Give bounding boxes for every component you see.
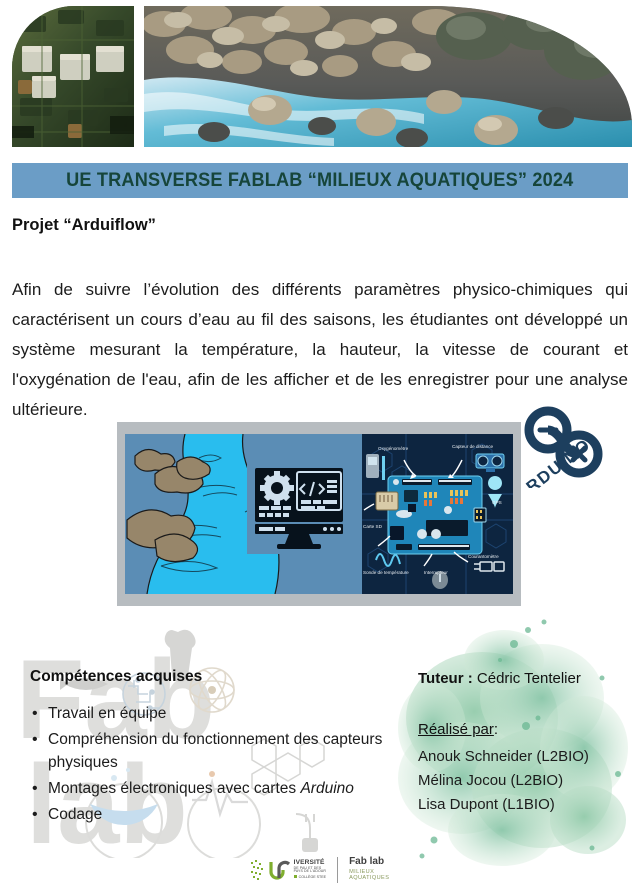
project-heading: Projet “Arduiflow” xyxy=(12,216,156,235)
uppa-line-3: COLLÈGE STEE xyxy=(294,875,326,880)
author-name: Mélina Jocou (L2BIO) xyxy=(418,769,628,793)
tutor-line: Tuteur : Cédric Tentelier xyxy=(418,668,628,690)
realise-underlined: Réalisé par xyxy=(418,721,494,738)
skills-heading: Compétences acquises xyxy=(30,668,390,686)
uppa-line-2b: PAYS DE L'ADOUR xyxy=(294,870,326,874)
list-item: Codage xyxy=(30,803,390,826)
rocky-stream-photo xyxy=(144,6,632,147)
uppa-wordmark: IVERSITÉ DE PAU ET DES PAYS DE L'ADOUR C… xyxy=(294,860,326,879)
author-name: Lisa Dupont (L1BIO) xyxy=(418,793,628,817)
uppa-monogram-icon xyxy=(269,859,291,881)
skills-section: Compétences acquises Travail en équipe C… xyxy=(30,668,390,829)
skills-list: Travail en équipe Compréhension du fonct… xyxy=(30,702,390,826)
credits-section: Tuteur : Cédric Tentelier Réalisé par: A… xyxy=(418,668,628,817)
tutor-label: Tuteur : xyxy=(418,670,473,687)
skill-text: Montages électroniques avec cartes xyxy=(48,780,300,797)
skill-text: Compréhension du fonctionnement des capt… xyxy=(48,731,382,771)
fablab-line-1: Fab lab xyxy=(349,857,389,867)
skill-text: Travail en équipe xyxy=(48,705,166,722)
list-item: Compréhension du fonctionnement des capt… xyxy=(30,728,390,774)
footer-logos: IVERSITÉ DE PAU ET DES PAYS DE L'ADOUR C… xyxy=(0,852,640,887)
label-oxygenometre: Oxygénomètre xyxy=(378,446,409,451)
label-sonde-temperature: Sonde de température xyxy=(363,570,409,575)
fablab-line-3: AQUATIQUES xyxy=(349,876,389,882)
author-name: Anouk Schneider (L2BIO) xyxy=(418,745,628,769)
project-description: Afin de suivre l’évolution des différent… xyxy=(12,275,628,425)
label-carte-sd: Carte SD xyxy=(363,524,383,529)
circuit-board-photo xyxy=(12,6,134,147)
arduino-board-panel: Oxygénomètre Capteur de distance Carte S… xyxy=(362,434,513,594)
label-capteur-distance: Capteur de distance xyxy=(452,444,494,449)
page-title-banner: UE TRANSVERSE FABLAB “MILIEUX AQUATIQUES… xyxy=(12,163,628,198)
header-images xyxy=(0,0,640,152)
uppa-dots-icon xyxy=(251,859,266,881)
label-courantometre: Courantomètre xyxy=(468,554,499,559)
skill-emphasis: Arduino xyxy=(300,780,353,797)
computer-code-icon xyxy=(247,462,351,554)
label-gps: GPS xyxy=(492,500,502,505)
page-title: UE TRANSVERSE FABLAB “MILIEUX AQUATIQUES… xyxy=(66,169,573,192)
label-interrupteur: Interrupteur xyxy=(424,570,448,575)
project-figure: Oxygénomètre Capteur de distance Carte S… xyxy=(117,422,521,606)
list-item: Travail en équipe xyxy=(30,702,390,725)
skill-text: Codage xyxy=(48,806,102,823)
arduino-logo-text: ARDUINO xyxy=(512,435,594,488)
uppa-logo: IVERSITÉ DE PAU ET DES PAYS DE L'ADOUR C… xyxy=(251,859,326,881)
tutor-name: Cédric Tentelier xyxy=(477,670,581,687)
realise-par-label: Réalisé par: xyxy=(418,718,628,741)
list-item: Montages électroniques avec cartes Ardui… xyxy=(30,777,390,800)
realise-colon: : xyxy=(494,721,498,738)
fablab-wordmark: Fab lab MILIEUX AQUATIQUES xyxy=(349,857,389,882)
footer-divider xyxy=(337,857,338,883)
